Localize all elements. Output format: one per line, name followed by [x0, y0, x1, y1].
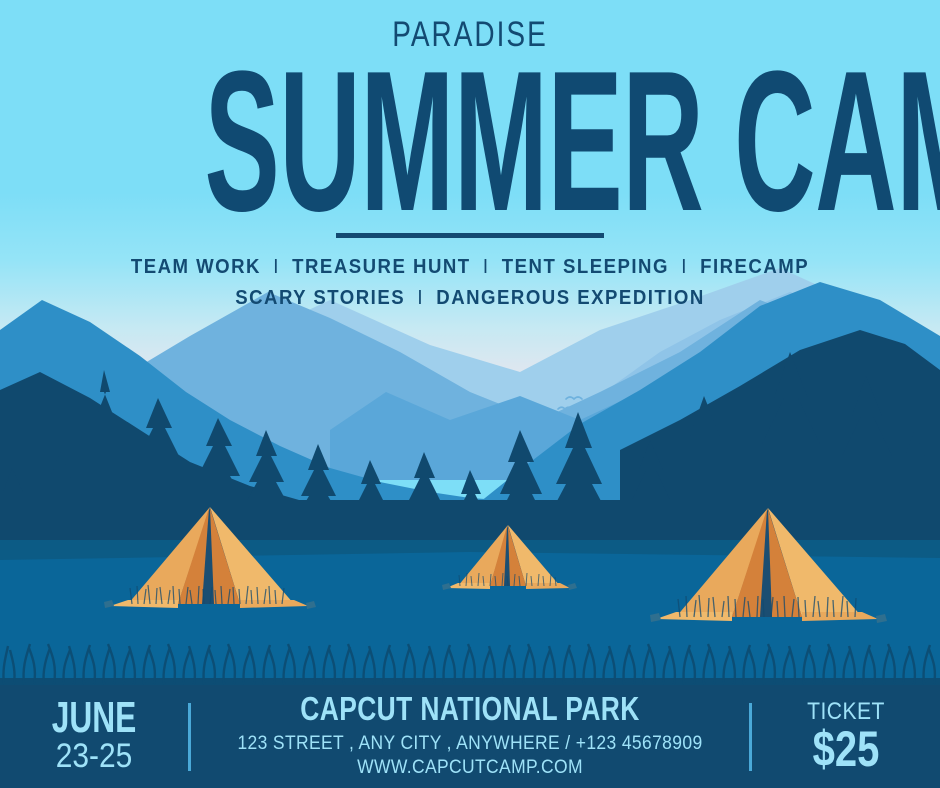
feature-item: SCARY STORIES [235, 285, 405, 312]
feature-separator: I [412, 287, 430, 309]
feature-item: TENT SLEEPING [502, 254, 669, 281]
ticket-block: TICKET $25 [752, 700, 940, 774]
poster-header: PARADISE SUMMER CAMP TEAM WORK I TREASUR… [0, 0, 940, 312]
venue-address: 123 STREET , ANY CITY , ANYWHERE / +123 … [219, 732, 721, 756]
venue-block: CAPCUT NATIONAL PARK 123 STREET , ANY CI… [191, 692, 749, 780]
features-line-2: SCARY STORIES I DANGEROUS EXPEDITION [33, 285, 907, 312]
poster-footer: JUNE 23-25 CAPCUT NATIONAL PARK 123 STRE… [0, 685, 940, 788]
feature-item: FIRECAMP [700, 254, 809, 281]
feature-item: DANGEROUS EXPEDITION [436, 285, 704, 312]
venue-name: CAPCUT NATIONAL PARK [252, 692, 689, 727]
feature-item: TEAM WORK [131, 254, 261, 281]
event-month: JUNE [26, 698, 161, 738]
feature-separator: I [676, 256, 694, 278]
event-days: 23-25 [11, 739, 176, 775]
page-title: SUMMER CAMP [204, 54, 735, 230]
ticket-price: $25 [771, 725, 921, 774]
feature-item: TREASURE HUNT [292, 254, 470, 281]
event-date-block: JUNE 23-25 [0, 698, 188, 775]
feature-separator: I [268, 256, 286, 278]
venue-website: WWW.CAPCUTCAMP.COM [219, 756, 721, 780]
features-line-1: TEAM WORK I TREASURE HUNT I TENT SLEEPIN… [33, 254, 907, 281]
feature-separator: I [477, 256, 495, 278]
summer-camp-poster: PARADISE SUMMER CAMP TEAM WORK I TREASUR… [0, 0, 940, 788]
